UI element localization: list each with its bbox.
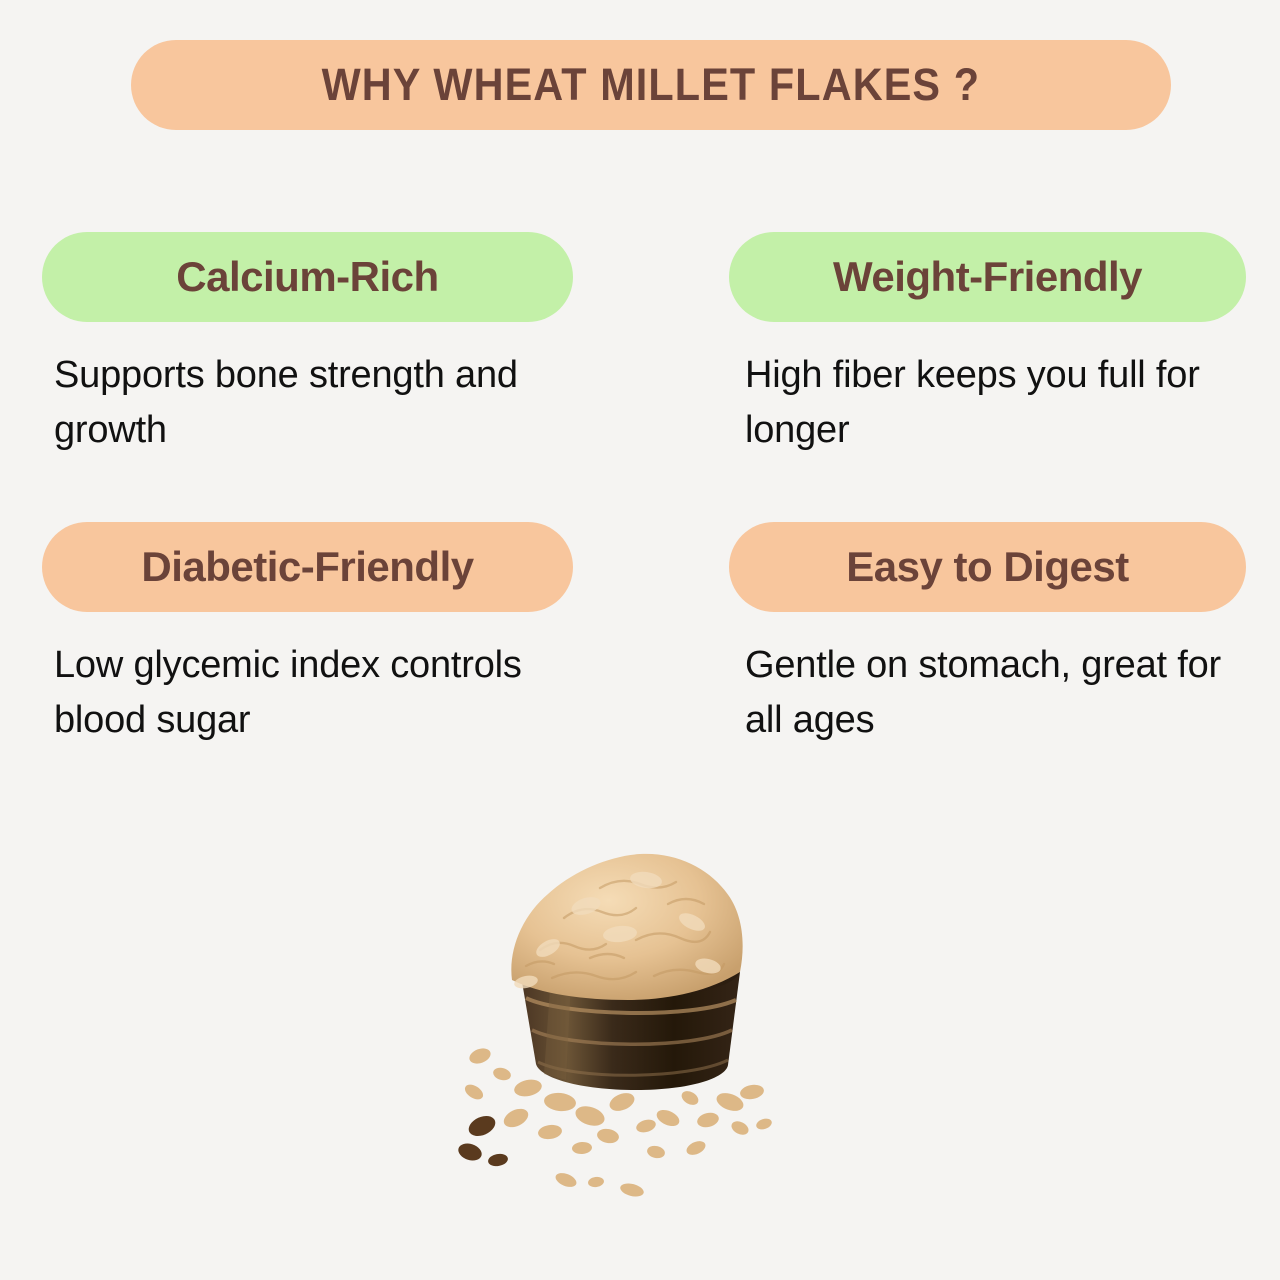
benefit-pill-easy-to-digest: Easy to Digest — [729, 522, 1246, 612]
benefit-description-diabetic-friendly: Low glycemic index controls blood sugar — [42, 638, 573, 749]
benefit-card-calcium-rich: Calcium-Rich Supports bone strength and … — [42, 232, 573, 459]
benefits-row-1: Calcium-Rich Supports bone strength and … — [0, 232, 1280, 522]
benefit-label-diabetic-friendly: Diabetic-Friendly — [141, 543, 473, 591]
benefit-card-diabetic-friendly: Diabetic-Friendly Low glycemic index con… — [42, 522, 573, 749]
benefit-label-weight-friendly: Weight-Friendly — [833, 253, 1142, 301]
benefit-card-weight-friendly: Weight-Friendly High fiber keeps you ful… — [729, 232, 1246, 459]
benefit-description-weight-friendly: High fiber keeps you full for longer — [729, 348, 1246, 459]
benefit-card-easy-to-digest: Easy to Digest Gentle on stomach, great … — [729, 522, 1246, 749]
benefit-pill-diabetic-friendly: Diabetic-Friendly — [42, 522, 573, 612]
benefits-row-2: Diabetic-Friendly Low glycemic index con… — [0, 522, 1280, 812]
benefit-pill-weight-friendly: Weight-Friendly — [729, 232, 1246, 322]
benefit-label-easy-to-digest: Easy to Digest — [846, 543, 1128, 591]
product-image — [440, 830, 840, 1230]
wheat-flakes-bucket-illustration — [440, 830, 840, 1230]
benefit-pill-calcium-rich: Calcium-Rich — [42, 232, 573, 322]
header-banner: WHY WHEAT MILLET FLAKES ? — [131, 40, 1171, 130]
page-title: WHY WHEAT MILLET FLAKES ? — [322, 59, 981, 111]
benefit-description-calcium-rich: Supports bone strength and growth — [42, 348, 573, 459]
benefit-description-easy-to-digest: Gentle on stomach, great for all ages — [729, 638, 1246, 749]
benefit-label-calcium-rich: Calcium-Rich — [176, 253, 438, 301]
benefits-grid: Calcium-Rich Supports bone strength and … — [0, 232, 1280, 812]
